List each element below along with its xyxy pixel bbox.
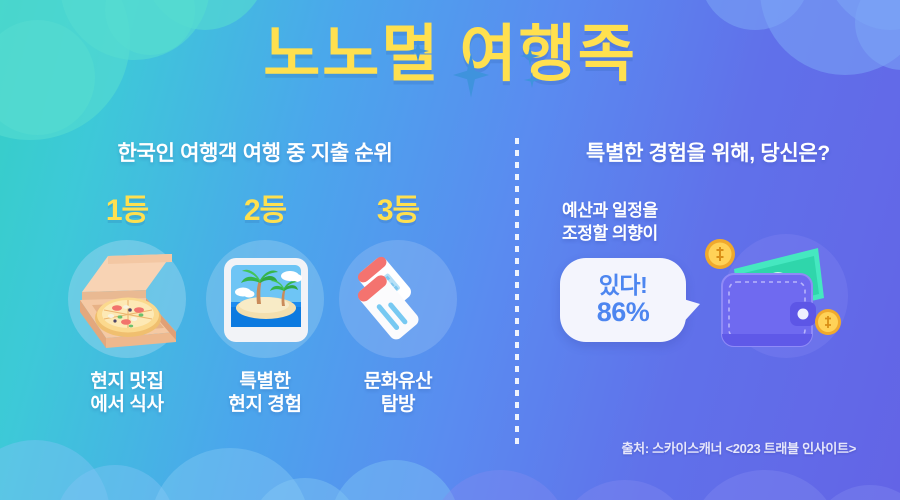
page-title: 노노멀 여행족 <box>259 24 640 86</box>
rank-badge-3: 3등 <box>323 196 473 226</box>
cloud-shape <box>250 478 360 500</box>
rank-caption-2: 특별한 현지 경험 <box>190 370 340 416</box>
rank-caption-3: 문화유산 탐방 <box>323 370 473 416</box>
answer-speech-bubble: 있다! 86% <box>560 258 686 342</box>
cloud-shape <box>810 485 900 500</box>
cloud-shape <box>690 470 840 500</box>
source-credit: 출처: 스카이스캐너 <2023 트래블 인사이트> <box>516 438 886 457</box>
rank-column-1: 1등 <box>52 196 202 416</box>
rank-badge-1: 1등 <box>52 196 202 226</box>
bubble-answer-percent: 86% <box>597 298 650 326</box>
cloud-shape <box>55 465 175 500</box>
question-line-1: 예산과 일정을 <box>562 200 658 223</box>
title-block: 노노멀 여행족 <box>0 24 900 86</box>
rank-column-3: 3등 <box>323 196 473 416</box>
rank-caption-1-line1: 현지 맛집 <box>52 370 202 393</box>
speech-bubble-content: 있다! 86% <box>560 258 686 342</box>
rank-caption-2-line1: 특별한 <box>190 370 340 393</box>
right-panel-question: 예산과 일정을 조정할 의향이 <box>562 200 658 246</box>
bubble-answer-label: 있다! <box>599 274 647 297</box>
infographic-canvas: 노노멀 여행족 한국인 여행객 여행 중 지출 순위 1등 <box>0 0 900 500</box>
cloud-shape <box>430 470 570 500</box>
rank-caption-1: 현지 맛집 에서 식사 <box>52 370 202 416</box>
admission-tickets-icon <box>339 240 457 358</box>
right-panel-heading: 특별한 경험을 위해, 당신은? <box>516 137 900 167</box>
left-panel-heading: 한국인 여행객 여행 중 지출 순위 <box>0 137 510 167</box>
cloud-shape <box>0 440 110 500</box>
rank-column-2: 2등 <box>190 196 340 416</box>
pizza-box-icon <box>68 240 186 358</box>
rank-caption-1-line2: 에서 식사 <box>52 393 202 416</box>
island-photo-icon <box>206 240 324 358</box>
cloud-shape <box>560 480 690 500</box>
cloud-shape <box>150 448 310 500</box>
question-line-2: 조정할 의향이 <box>562 223 658 246</box>
rank-caption-3-line2: 탐방 <box>323 393 473 416</box>
rank-caption-2-line2: 현지 경험 <box>190 393 340 416</box>
rank-caption-3-line1: 문화유산 <box>323 370 473 393</box>
cloud-shape <box>330 460 460 500</box>
wallet-with-money-icon <box>700 226 872 364</box>
rank-badge-2: 2등 <box>190 196 340 226</box>
panel-divider <box>515 138 519 450</box>
